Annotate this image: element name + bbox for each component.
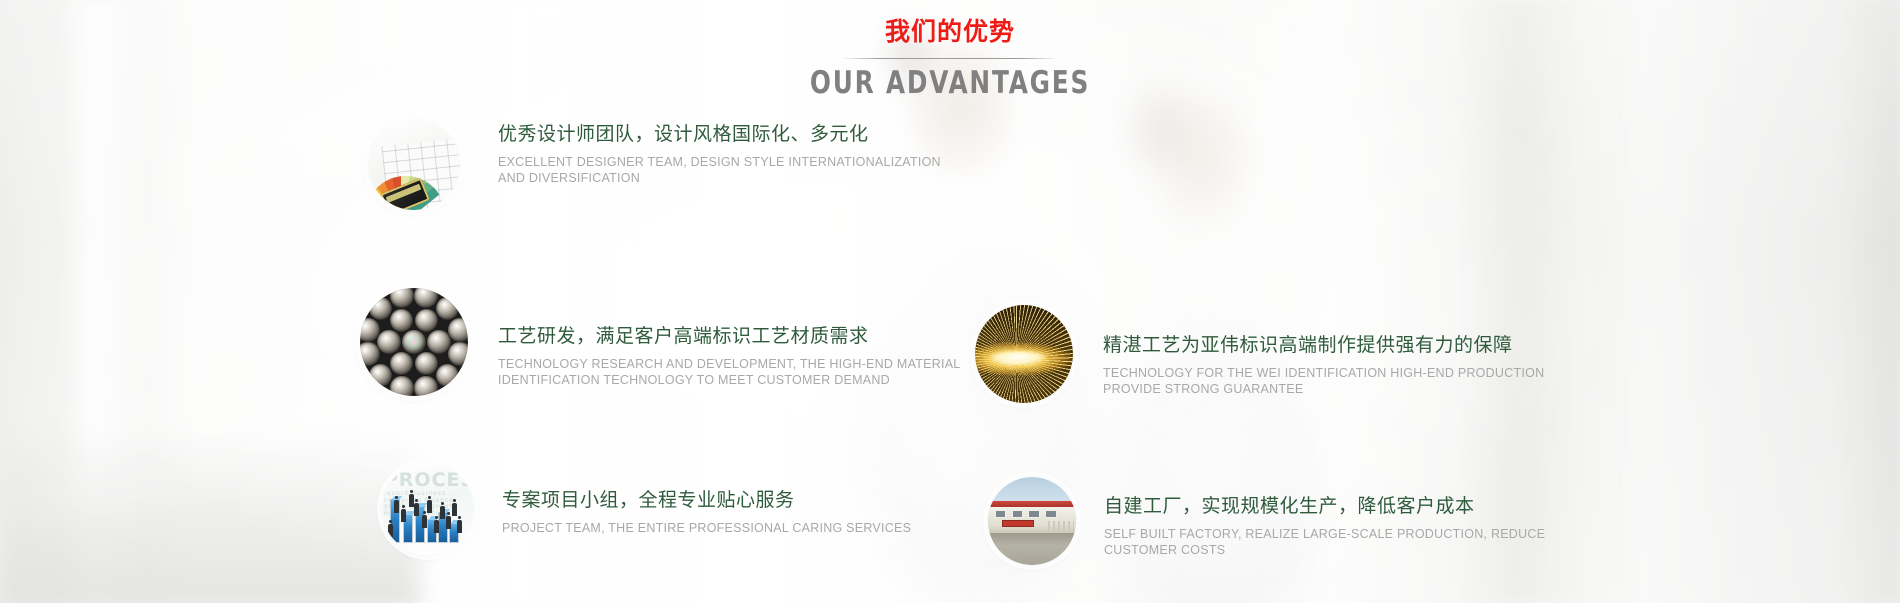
feature-title-cn: 专案项目小组，全程专业贴心服务 xyxy=(502,488,911,513)
feature-icon-wrap xyxy=(368,118,460,210)
businessman-silhouette-art xyxy=(440,506,445,519)
section-title-en: OUR ADVANTAGES xyxy=(190,65,1710,101)
feature-icon-wrap xyxy=(975,305,1073,403)
feature-texts: 优秀设计师团队，设计风格国际化、多元化 EXCELLENT DESIGNER T… xyxy=(498,118,941,187)
metal-tube-art xyxy=(360,318,380,342)
advantages-section: 我们的优势 OUR ADVANTAGES 优秀设计师团队，设计风格国际化、多元化… xyxy=(0,0,1900,603)
feature-title-cn: 自建工厂，实现规模化生产，降低客户成本 xyxy=(1104,494,1545,519)
weld-core-art xyxy=(991,351,1046,363)
feature-item[interactable]: 优秀设计师团队，设计风格国际化、多元化 EXCELLENT DESIGNER T… xyxy=(368,118,941,210)
metal-tube-art xyxy=(415,309,439,333)
metal-tubes-icon xyxy=(360,288,468,396)
feature-title-en: SELF BUILT FACTORY, REALIZE LARGE-SCALE … xyxy=(1104,526,1545,559)
metal-tube-art xyxy=(414,288,438,308)
feature-item[interactable]: PROCESS record business corporate financ… xyxy=(382,463,911,555)
metal-tube-art xyxy=(390,288,414,308)
color-swatch-blueprint-icon xyxy=(368,118,460,210)
feature-item[interactable]: 自建工厂，实现规模化生产，降低客户成本 SELF BUILT FACTORY, … xyxy=(988,477,1545,565)
feature-icon-wrap xyxy=(360,288,468,396)
metal-tube-art xyxy=(390,352,414,376)
feature-texts: 工艺研发，满足客户高端标识工艺材质需求 TECHNOLOGY RESEARCH … xyxy=(498,288,961,389)
businessman-silhouette-art xyxy=(452,503,457,516)
metal-tube-art xyxy=(436,364,460,388)
feature-item[interactable]: 工艺研发，满足客户高端标识工艺材质需求 TECHNOLOGY RESEARCH … xyxy=(360,288,961,396)
feature-title-en: TECHNOLOGY FOR THE WEI IDENTIFICATION HI… xyxy=(1103,365,1544,398)
feature-icon-wrap xyxy=(988,477,1076,565)
welding-sparks-icon xyxy=(975,305,1073,403)
businessman-silhouette-art xyxy=(422,515,427,528)
icon-artwork xyxy=(368,118,460,210)
title-divider xyxy=(841,58,1059,59)
metal-tube-art xyxy=(369,297,393,321)
icon-artwork xyxy=(360,288,468,396)
metal-tube-art xyxy=(415,352,439,376)
feature-texts: 精湛工艺为亚伟标识高端制作提供强有力的保障 TECHNOLOGY FOR THE… xyxy=(1103,305,1544,398)
chart-ghost-word-text: PROCESS xyxy=(384,470,472,491)
metal-tube-art xyxy=(427,330,451,354)
feature-title-cn: 精湛工艺为亚伟标识高端制作提供强有力的保障 xyxy=(1103,333,1544,358)
factory-window-art xyxy=(1045,510,1056,518)
feature-title-cn: 工艺研发，满足客户高端标识工艺材质需求 xyxy=(498,324,961,349)
factory-ground-art xyxy=(988,533,1076,565)
feature-title-en: TECHNOLOGY RESEARCH AND DEVELOPMENT, THE… xyxy=(498,356,961,389)
icon-artwork xyxy=(975,305,1073,403)
metal-tube-art xyxy=(448,342,468,366)
metal-tube-art xyxy=(360,342,380,366)
businessman-silhouette-art xyxy=(388,524,393,537)
businessman-silhouette-art xyxy=(446,516,451,529)
businessman-silhouette-art xyxy=(434,520,439,533)
businessman-silhouette-art xyxy=(409,494,414,507)
section-title-cn: 我们的优势 xyxy=(0,18,1900,47)
feature-title-en: EXCELLENT DESIGNER TEAM, DESIGN STYLE IN… xyxy=(498,154,941,187)
feature-title-cn: 优秀设计师团队，设计风格国际化、多元化 xyxy=(498,122,941,147)
businessman-silhouette-art xyxy=(457,520,462,533)
factory-window-art xyxy=(995,510,1006,518)
metal-tube-art xyxy=(369,364,393,388)
feature-icon-wrap: PROCESS record business corporate financ… xyxy=(382,463,474,555)
businessman-silhouette-art xyxy=(394,500,399,513)
feature-texts: 自建工厂，实现规模化生产，降低客户成本 SELF BUILT FACTORY, … xyxy=(1104,477,1545,559)
factory-sign-art xyxy=(1002,520,1034,527)
factory-window-art xyxy=(1012,510,1023,518)
metal-tube-art xyxy=(414,376,438,396)
metal-tube-art xyxy=(377,330,401,354)
metal-tube-art xyxy=(390,376,414,396)
metal-tube-art xyxy=(436,297,460,321)
feature-title-en: PROJECT TEAM, THE ENTIRE PROFESSIONAL CA… xyxy=(502,520,911,537)
tube-highlight-art xyxy=(405,333,422,350)
feature-item[interactable]: 精湛工艺为亚伟标识高端制作提供强有力的保障 TECHNOLOGY FOR THE… xyxy=(975,305,1544,403)
bar-chart-team-icon: PROCESS record business corporate financ… xyxy=(382,463,474,555)
metal-tube-art xyxy=(390,309,414,333)
swatch-fan-art xyxy=(374,127,431,184)
section-header: 我们的优势 OUR ADVANTAGES xyxy=(0,18,1900,101)
factory-fence-art xyxy=(1048,521,1074,533)
feature-texts: 专案项目小组，全程专业贴心服务 PROJECT TEAM, THE ENTIRE… xyxy=(502,463,911,536)
businessman-silhouette-art xyxy=(414,503,419,516)
factory-window-art xyxy=(1028,510,1039,518)
metal-tube-art xyxy=(448,318,468,342)
icon-artwork: PROCESS record business corporate financ… xyxy=(382,463,474,555)
businessman-silhouette-art xyxy=(401,509,406,522)
businessman-silhouette-art xyxy=(427,500,432,513)
icon-artwork xyxy=(988,477,1076,565)
factory-building-icon xyxy=(988,477,1076,565)
